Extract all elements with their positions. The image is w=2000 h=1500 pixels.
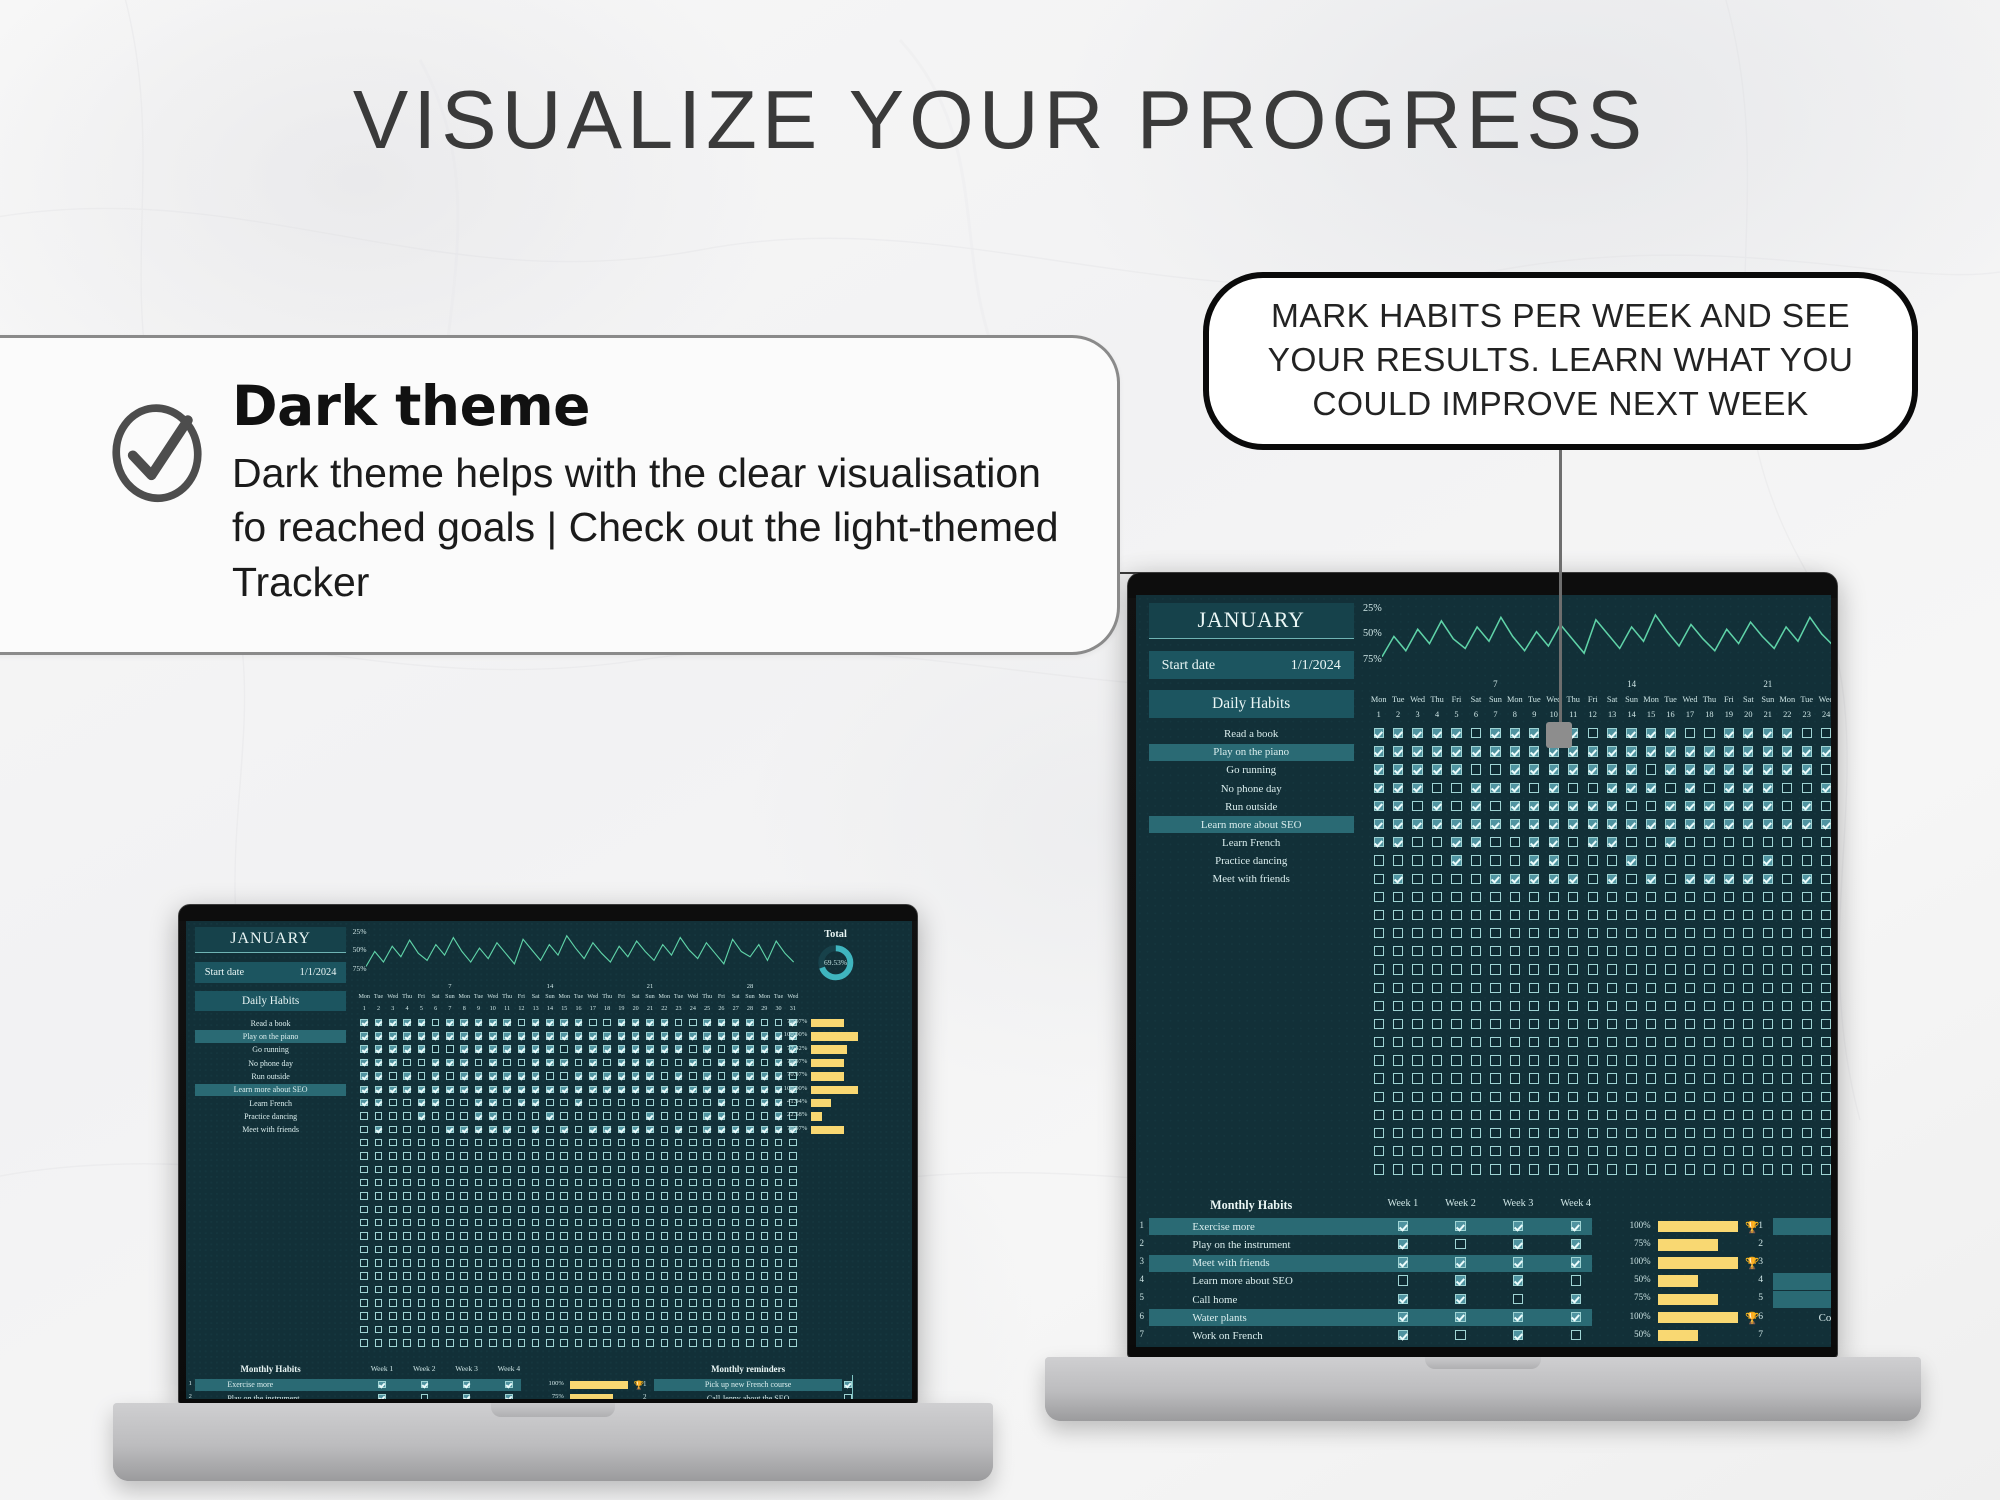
empty-grid-checkbox[interactable] — [703, 1232, 711, 1240]
empty-grid-checkbox[interactable] — [375, 1179, 383, 1187]
daily-habit-checkbox[interactable] — [746, 1045, 754, 1053]
empty-grid-checkbox[interactable] — [746, 1272, 754, 1280]
daily-habit-checkbox[interactable] — [532, 1086, 540, 1094]
empty-grid-checkbox[interactable] — [532, 1206, 540, 1214]
empty-grid-checkbox[interactable] — [1490, 1055, 1500, 1065]
empty-grid-checkbox[interactable] — [775, 1272, 783, 1280]
empty-grid-checkbox[interactable] — [1412, 1055, 1422, 1065]
empty-grid-checkbox[interactable] — [775, 1219, 783, 1227]
daily-habit-checkbox[interactable] — [560, 1072, 568, 1080]
daily-habit-checkbox[interactable] — [560, 1086, 568, 1094]
empty-grid-checkbox[interactable] — [518, 1139, 526, 1147]
empty-grid-checkbox[interactable] — [489, 1286, 497, 1294]
empty-grid-checkbox[interactable] — [1821, 1055, 1831, 1065]
daily-habit-checkbox[interactable] — [632, 1072, 640, 1080]
empty-grid-checkbox[interactable] — [1412, 1073, 1422, 1083]
empty-grid-checkbox[interactable] — [1393, 946, 1403, 956]
empty-grid-checkbox[interactable] — [1607, 910, 1617, 920]
monthly-reminder-row[interactable]: Coffe meetings with the BlaBla group — [1773, 1309, 1831, 1326]
daily-habit-checkbox[interactable] — [546, 1072, 554, 1080]
empty-grid-checkbox[interactable] — [389, 1232, 397, 1240]
empty-grid-checkbox[interactable] — [389, 1259, 397, 1267]
daily-habit-checkbox[interactable] — [1724, 728, 1734, 738]
daily-habit-checkbox[interactable] — [1685, 874, 1695, 884]
empty-grid-checkbox[interactable] — [432, 1192, 440, 1200]
empty-grid-checkbox[interactable] — [1432, 1164, 1442, 1174]
empty-grid-checkbox[interactable] — [703, 1312, 711, 1320]
monthly-habit-checkbox[interactable] — [1455, 1239, 1465, 1249]
empty-grid-checkbox[interactable] — [532, 1326, 540, 1334]
empty-grid-checkbox[interactable] — [1412, 1146, 1422, 1156]
empty-grid-checkbox[interactable] — [532, 1219, 540, 1227]
empty-grid-checkbox[interactable] — [1432, 1019, 1442, 1029]
daily-habit-checkbox[interactable] — [389, 1059, 397, 1067]
daily-habit-checkbox[interactable] — [1646, 764, 1656, 774]
empty-grid-checkbox[interactable] — [646, 1272, 654, 1280]
daily-habit-checkbox[interactable] — [1451, 728, 1461, 738]
empty-grid-checkbox[interactable] — [1704, 1110, 1714, 1120]
daily-habit-checkbox[interactable] — [1588, 728, 1598, 738]
empty-grid-checkbox[interactable] — [1588, 1146, 1598, 1156]
empty-grid-checkbox[interactable] — [1490, 1164, 1500, 1174]
empty-grid-checkbox[interactable] — [775, 1246, 783, 1254]
empty-grid-checkbox[interactable] — [375, 1339, 383, 1347]
daily-habit-checkbox[interactable] — [1510, 783, 1520, 793]
empty-grid-checkbox[interactable] — [389, 1219, 397, 1227]
daily-habit-checkbox[interactable] — [1451, 855, 1461, 865]
empty-grid-checkbox[interactable] — [460, 1339, 468, 1347]
empty-grid-checkbox[interactable] — [489, 1272, 497, 1280]
daily-habit-checkbox[interactable] — [489, 1126, 497, 1134]
empty-grid-checkbox[interactable] — [761, 1192, 769, 1200]
daily-habit-checkbox[interactable] — [1665, 837, 1675, 847]
empty-grid-checkbox[interactable] — [432, 1152, 440, 1160]
empty-grid-checkbox[interactable] — [1646, 1164, 1656, 1174]
empty-grid-checkbox[interactable] — [1393, 983, 1403, 993]
empty-grid-checkbox[interactable] — [403, 1312, 411, 1320]
monthly-habit-checkbox[interactable] — [1455, 1221, 1465, 1231]
empty-grid-checkbox[interactable] — [1626, 1146, 1636, 1156]
daily-habit-checkbox[interactable] — [603, 1032, 611, 1040]
daily-habit-checkbox[interactable] — [1607, 783, 1617, 793]
empty-grid-checkbox[interactable] — [775, 1232, 783, 1240]
daily-habit-checkbox[interactable] — [589, 1126, 597, 1134]
daily-habit-checkbox[interactable] — [761, 1059, 769, 1067]
empty-grid-checkbox[interactable] — [1568, 1164, 1578, 1174]
daily-habit-checkbox[interactable] — [1802, 746, 1812, 756]
daily-habit-checkbox[interactable] — [1782, 746, 1792, 756]
empty-grid-checkbox[interactable] — [589, 1206, 597, 1214]
empty-grid-checkbox[interactable] — [1393, 1037, 1403, 1047]
empty-grid-checkbox[interactable] — [675, 1286, 683, 1294]
empty-grid-checkbox[interactable] — [632, 1259, 640, 1267]
empty-grid-checkbox[interactable] — [1471, 1128, 1481, 1138]
empty-grid-checkbox[interactable] — [1704, 1146, 1714, 1156]
daily-habit-checkbox[interactable] — [1763, 837, 1773, 847]
empty-grid-checkbox[interactable] — [446, 1219, 454, 1227]
empty-grid-checkbox[interactable] — [389, 1339, 397, 1347]
daily-habit-checkbox[interactable] — [703, 1032, 711, 1040]
empty-grid-checkbox[interactable] — [518, 1152, 526, 1160]
monthly-habit-checkbox[interactable] — [1513, 1312, 1523, 1322]
daily-habit-checkbox[interactable] — [718, 1099, 726, 1107]
empty-grid-checkbox[interactable] — [603, 1246, 611, 1254]
daily-habit-checkbox[interactable] — [689, 1019, 697, 1027]
empty-grid-checkbox[interactable] — [1665, 1073, 1675, 1083]
empty-grid-checkbox[interactable] — [1412, 1019, 1422, 1029]
daily-habit-checkbox[interactable] — [646, 1099, 654, 1107]
daily-habit-checkbox[interactable] — [1743, 855, 1753, 865]
empty-grid-checkbox[interactable] — [1374, 1073, 1384, 1083]
daily-habit-checkbox[interactable] — [1665, 874, 1675, 884]
empty-grid-checkbox[interactable] — [1471, 964, 1481, 974]
daily-habit-checkbox[interactable] — [1802, 819, 1812, 829]
daily-habit-checkbox[interactable] — [1802, 855, 1812, 865]
daily-habit-checkbox[interactable] — [418, 1059, 426, 1067]
daily-habit-checkbox[interactable] — [646, 1112, 654, 1120]
daily-habit-checkbox[interactable] — [1763, 783, 1773, 793]
empty-grid-checkbox[interactable] — [718, 1192, 726, 1200]
empty-grid-checkbox[interactable] — [575, 1152, 583, 1160]
empty-grid-checkbox[interactable] — [503, 1192, 511, 1200]
empty-grid-checkbox[interactable] — [1685, 1128, 1695, 1138]
empty-grid-checkbox[interactable] — [675, 1219, 683, 1227]
empty-grid-checkbox[interactable] — [661, 1139, 669, 1147]
daily-habit-checkbox[interactable] — [1763, 801, 1773, 811]
monthly-reminder-row[interactable]: Call Jenny about the SEO — [654, 1392, 842, 1399]
empty-grid-checkbox[interactable] — [560, 1232, 568, 1240]
daily-habit-checkbox[interactable] — [403, 1059, 411, 1067]
empty-grid-checkbox[interactable] — [532, 1259, 540, 1267]
daily-habit-checkbox[interactable] — [1471, 855, 1481, 865]
empty-grid-checkbox[interactable] — [1724, 892, 1734, 902]
daily-habit-checkbox[interactable] — [1626, 837, 1636, 847]
empty-grid-checkbox[interactable] — [646, 1152, 654, 1160]
empty-grid-checkbox[interactable] — [646, 1139, 654, 1147]
monthly-reminder-row[interactable]: Call Jenny about the SEO — [1773, 1237, 1831, 1254]
empty-grid-checkbox[interactable] — [489, 1246, 497, 1254]
daily-habit-checkbox[interactable] — [546, 1019, 554, 1027]
empty-grid-checkbox[interactable] — [1685, 1110, 1695, 1120]
empty-grid-checkbox[interactable] — [1432, 946, 1442, 956]
monthly-habit-checkbox[interactable] — [505, 1394, 513, 1399]
empty-grid-checkbox[interactable] — [532, 1166, 540, 1174]
empty-grid-checkbox[interactable] — [746, 1299, 754, 1307]
daily-habit-checkbox[interactable] — [1412, 874, 1422, 884]
daily-habit-checkbox[interactable] — [560, 1126, 568, 1134]
empty-grid-checkbox[interactable] — [1471, 1037, 1481, 1047]
empty-grid-checkbox[interactable] — [618, 1232, 626, 1240]
daily-habit-checkbox[interactable] — [1763, 819, 1773, 829]
empty-grid-checkbox[interactable] — [1490, 1128, 1500, 1138]
empty-grid-checkbox[interactable] — [1763, 1037, 1773, 1047]
monthly-habit-row[interactable]: Exercise more — [1149, 1218, 1592, 1235]
daily-habit-checkbox[interactable] — [418, 1045, 426, 1053]
daily-habit-checkbox[interactable] — [1412, 855, 1422, 865]
daily-habit-checkbox[interactable] — [1432, 819, 1442, 829]
empty-grid-checkbox[interactable] — [532, 1179, 540, 1187]
daily-habit-checkbox[interactable] — [589, 1086, 597, 1094]
empty-grid-checkbox[interactable] — [560, 1312, 568, 1320]
empty-grid-checkbox[interactable] — [761, 1246, 769, 1254]
empty-grid-checkbox[interactable] — [446, 1232, 454, 1240]
empty-grid-checkbox[interactable] — [1685, 928, 1695, 938]
daily-habit-checkbox[interactable] — [1471, 874, 1481, 884]
daily-habit-checkbox[interactable] — [432, 1032, 440, 1040]
daily-habit-checkbox[interactable] — [1802, 764, 1812, 774]
empty-grid-checkbox[interactable] — [432, 1339, 440, 1347]
empty-grid-checkbox[interactable] — [1451, 928, 1461, 938]
daily-habit-checkbox[interactable] — [618, 1045, 626, 1053]
daily-habit-checkbox[interactable] — [575, 1019, 583, 1027]
empty-grid-checkbox[interactable] — [360, 1152, 368, 1160]
empty-grid-checkbox[interactable] — [1743, 1037, 1753, 1047]
empty-grid-checkbox[interactable] — [1607, 1146, 1617, 1156]
daily-habit-checkbox[interactable] — [432, 1072, 440, 1080]
daily-habit-checkbox[interactable] — [518, 1072, 526, 1080]
empty-grid-checkbox[interactable] — [418, 1286, 426, 1294]
monthly-habit-row[interactable]: Exercise more — [195, 1379, 520, 1391]
daily-habit-checkbox[interactable] — [460, 1112, 468, 1120]
daily-habit-checkbox[interactable] — [761, 1045, 769, 1053]
empty-grid-checkbox[interactable] — [1665, 928, 1675, 938]
empty-grid-checkbox[interactable] — [1588, 892, 1598, 902]
empty-grid-checkbox[interactable] — [1471, 892, 1481, 902]
empty-grid-checkbox[interactable] — [403, 1286, 411, 1294]
monthly-habit-checkbox[interactable] — [1571, 1330, 1581, 1340]
empty-grid-checkbox[interactable] — [618, 1259, 626, 1267]
empty-grid-checkbox[interactable] — [503, 1232, 511, 1240]
empty-grid-checkbox[interactable] — [1743, 1164, 1753, 1174]
daily-habit-checkbox[interactable] — [1626, 874, 1636, 884]
empty-grid-checkbox[interactable] — [1451, 892, 1461, 902]
empty-grid-checkbox[interactable] — [789, 1232, 797, 1240]
empty-grid-checkbox[interactable] — [589, 1312, 597, 1320]
empty-grid-checkbox[interactable] — [775, 1339, 783, 1347]
empty-grid-checkbox[interactable] — [789, 1166, 797, 1174]
daily-habit-checkbox[interactable] — [503, 1019, 511, 1027]
empty-grid-checkbox[interactable] — [1510, 1037, 1520, 1047]
daily-habit-checkbox[interactable] — [1685, 783, 1695, 793]
daily-habit-checkbox[interactable] — [1607, 746, 1617, 756]
empty-grid-checkbox[interactable] — [446, 1166, 454, 1174]
daily-habit-checkbox[interactable] — [603, 1126, 611, 1134]
daily-habit-checkbox[interactable] — [1588, 874, 1598, 884]
empty-grid-checkbox[interactable] — [1724, 1037, 1734, 1047]
monthly-habit-checkbox[interactable] — [1398, 1221, 1408, 1231]
empty-grid-checkbox[interactable] — [1374, 946, 1384, 956]
empty-grid-checkbox[interactable] — [389, 1312, 397, 1320]
empty-grid-checkbox[interactable] — [1802, 1019, 1812, 1029]
empty-grid-checkbox[interactable] — [1763, 928, 1773, 938]
daily-habit-checkbox[interactable] — [389, 1099, 397, 1107]
empty-grid-checkbox[interactable] — [1763, 1073, 1773, 1083]
monthly-habit-checkbox[interactable] — [1571, 1257, 1581, 1267]
daily-habit-checkbox[interactable] — [1393, 728, 1403, 738]
empty-grid-checkbox[interactable] — [718, 1139, 726, 1147]
empty-grid-checkbox[interactable] — [1646, 1037, 1656, 1047]
empty-grid-checkbox[interactable] — [432, 1179, 440, 1187]
empty-grid-checkbox[interactable] — [1821, 1001, 1831, 1011]
empty-grid-checkbox[interactable] — [589, 1179, 597, 1187]
empty-grid-checkbox[interactable] — [718, 1312, 726, 1320]
daily-habit-checkbox[interactable] — [632, 1126, 640, 1134]
empty-grid-checkbox[interactable] — [789, 1246, 797, 1254]
empty-grid-checkbox[interactable] — [761, 1312, 769, 1320]
daily-habit-checkbox[interactable] — [460, 1032, 468, 1040]
empty-grid-checkbox[interactable] — [1412, 1164, 1422, 1174]
daily-habit-checkbox[interactable] — [1568, 783, 1578, 793]
empty-grid-checkbox[interactable] — [1568, 1019, 1578, 1029]
empty-grid-checkbox[interactable] — [1374, 910, 1384, 920]
empty-grid-checkbox[interactable] — [1626, 1128, 1636, 1138]
empty-grid-checkbox[interactable] — [1412, 928, 1422, 938]
empty-grid-checkbox[interactable] — [618, 1179, 626, 1187]
daily-habit-checkbox[interactable] — [475, 1086, 483, 1094]
empty-grid-checkbox[interactable] — [1451, 983, 1461, 993]
empty-grid-checkbox[interactable] — [1490, 910, 1500, 920]
daily-habit-checkbox[interactable] — [632, 1112, 640, 1120]
daily-habit-checkbox[interactable] — [489, 1072, 497, 1080]
daily-habit-label[interactable]: No phone day — [1149, 780, 1354, 797]
empty-grid-checkbox[interactable] — [546, 1312, 554, 1320]
daily-habit-checkbox[interactable] — [689, 1059, 697, 1067]
empty-grid-checkbox[interactable] — [1704, 1001, 1714, 1011]
empty-grid-checkbox[interactable] — [546, 1166, 554, 1174]
daily-habit-checkbox[interactable] — [1782, 728, 1792, 738]
empty-grid-checkbox[interactable] — [560, 1192, 568, 1200]
empty-grid-checkbox[interactable] — [432, 1219, 440, 1227]
empty-grid-checkbox[interactable] — [789, 1179, 797, 1187]
daily-habit-checkbox[interactable] — [1782, 783, 1792, 793]
monthly-reminder-checkbox[interactable] — [844, 1394, 852, 1399]
empty-grid-checkbox[interactable] — [503, 1286, 511, 1294]
daily-habit-checkbox[interactable] — [1451, 874, 1461, 884]
daily-habit-checkbox[interactable] — [432, 1126, 440, 1134]
daily-habit-checkbox[interactable] — [1490, 728, 1500, 738]
empty-grid-checkbox[interactable] — [1374, 928, 1384, 938]
empty-grid-checkbox[interactable] — [446, 1179, 454, 1187]
empty-grid-checkbox[interactable] — [1432, 1110, 1442, 1120]
daily-habit-checkbox[interactable] — [761, 1032, 769, 1040]
empty-grid-checkbox[interactable] — [475, 1166, 483, 1174]
daily-habit-checkbox[interactable] — [1685, 764, 1695, 774]
empty-grid-checkbox[interactable] — [1490, 892, 1500, 902]
empty-grid-checkbox[interactable] — [389, 1152, 397, 1160]
empty-grid-checkbox[interactable] — [360, 1192, 368, 1200]
monthly-reminder-row[interactable]: Pick up new French course — [654, 1379, 842, 1391]
empty-grid-checkbox[interactable] — [475, 1312, 483, 1320]
empty-grid-checkbox[interactable] — [1471, 1092, 1481, 1102]
empty-grid-checkbox[interactable] — [432, 1286, 440, 1294]
empty-grid-checkbox[interactable] — [718, 1166, 726, 1174]
empty-grid-checkbox[interactable] — [546, 1219, 554, 1227]
daily-habit-checkbox[interactable] — [1432, 801, 1442, 811]
daily-habit-checkbox[interactable] — [1374, 874, 1384, 884]
empty-grid-checkbox[interactable] — [432, 1246, 440, 1254]
daily-habit-label[interactable]: Read a book — [1149, 726, 1354, 743]
monthly-habit-checkbox[interactable] — [1513, 1330, 1523, 1340]
empty-grid-checkbox[interactable] — [403, 1166, 411, 1174]
empty-grid-checkbox[interactable] — [761, 1286, 769, 1294]
monthly-reminder-row[interactable] — [1773, 1346, 1831, 1347]
daily-habit-checkbox[interactable] — [1763, 764, 1773, 774]
monthly-reminder-row[interactable]: Ask Ian about the Bog posts — [1773, 1291, 1831, 1308]
daily-habit-checkbox[interactable] — [475, 1072, 483, 1080]
empty-grid-checkbox[interactable] — [460, 1139, 468, 1147]
daily-habit-checkbox[interactable] — [1626, 728, 1636, 738]
empty-grid-checkbox[interactable] — [1471, 983, 1481, 993]
daily-habit-checkbox[interactable] — [1588, 855, 1598, 865]
empty-grid-checkbox[interactable] — [518, 1286, 526, 1294]
empty-grid-checkbox[interactable] — [403, 1192, 411, 1200]
empty-grid-checkbox[interactable] — [1743, 1001, 1753, 1011]
empty-grid-checkbox[interactable] — [460, 1232, 468, 1240]
empty-grid-checkbox[interactable] — [1743, 983, 1753, 993]
empty-grid-checkbox[interactable] — [1549, 928, 1559, 938]
daily-habit-checkbox[interactable] — [475, 1059, 483, 1067]
empty-grid-checkbox[interactable] — [503, 1219, 511, 1227]
daily-habit-checkbox[interactable] — [1646, 819, 1656, 829]
empty-grid-checkbox[interactable] — [1607, 1128, 1617, 1138]
empty-grid-checkbox[interactable] — [761, 1139, 769, 1147]
empty-grid-checkbox[interactable] — [1743, 1110, 1753, 1120]
empty-grid-checkbox[interactable] — [1432, 1001, 1442, 1011]
empty-grid-checkbox[interactable] — [1451, 1019, 1461, 1029]
empty-grid-checkbox[interactable] — [489, 1152, 497, 1160]
daily-habit-checkbox[interactable] — [1704, 874, 1714, 884]
empty-grid-checkbox[interactable] — [418, 1326, 426, 1334]
daily-habit-checkbox[interactable] — [732, 1099, 740, 1107]
empty-grid-checkbox[interactable] — [746, 1179, 754, 1187]
empty-grid-checkbox[interactable] — [446, 1312, 454, 1320]
empty-grid-checkbox[interactable] — [703, 1272, 711, 1280]
empty-grid-checkbox[interactable] — [1393, 1073, 1403, 1083]
daily-habit-checkbox[interactable] — [475, 1045, 483, 1053]
empty-grid-checkbox[interactable] — [1665, 1092, 1675, 1102]
empty-grid-checkbox[interactable] — [1704, 946, 1714, 956]
empty-grid-checkbox[interactable] — [532, 1192, 540, 1200]
daily-habit-checkbox[interactable] — [1646, 837, 1656, 847]
empty-grid-checkbox[interactable] — [746, 1139, 754, 1147]
empty-grid-checkbox[interactable] — [603, 1206, 611, 1214]
daily-habit-checkbox[interactable] — [1763, 874, 1773, 884]
empty-grid-checkbox[interactable] — [746, 1326, 754, 1334]
empty-grid-checkbox[interactable] — [1626, 964, 1636, 974]
empty-grid-checkbox[interactable] — [1724, 946, 1734, 956]
daily-habit-checkbox[interactable] — [703, 1045, 711, 1053]
empty-grid-checkbox[interactable] — [1412, 1001, 1422, 1011]
daily-habit-checkbox[interactable] — [1588, 783, 1598, 793]
empty-grid-checkbox[interactable] — [603, 1286, 611, 1294]
empty-grid-checkbox[interactable] — [518, 1272, 526, 1280]
daily-habit-checkbox[interactable] — [1374, 855, 1384, 865]
empty-grid-checkbox[interactable] — [446, 1206, 454, 1214]
empty-grid-checkbox[interactable] — [1588, 983, 1598, 993]
empty-grid-checkbox[interactable] — [1743, 1146, 1753, 1156]
daily-habit-checkbox[interactable] — [446, 1059, 454, 1067]
daily-habit-checkbox[interactable] — [403, 1126, 411, 1134]
empty-grid-checkbox[interactable] — [1412, 1128, 1422, 1138]
daily-habit-checkbox[interactable] — [460, 1059, 468, 1067]
daily-habit-checkbox[interactable] — [1529, 837, 1539, 847]
daily-habit-checkbox[interactable] — [1510, 764, 1520, 774]
daily-habit-checkbox[interactable] — [1821, 746, 1831, 756]
daily-habit-checkbox[interactable] — [560, 1032, 568, 1040]
empty-grid-checkbox[interactable] — [1607, 946, 1617, 956]
daily-habit-checkbox[interactable] — [732, 1019, 740, 1027]
monthly-habit-checkbox[interactable] — [1455, 1330, 1465, 1340]
